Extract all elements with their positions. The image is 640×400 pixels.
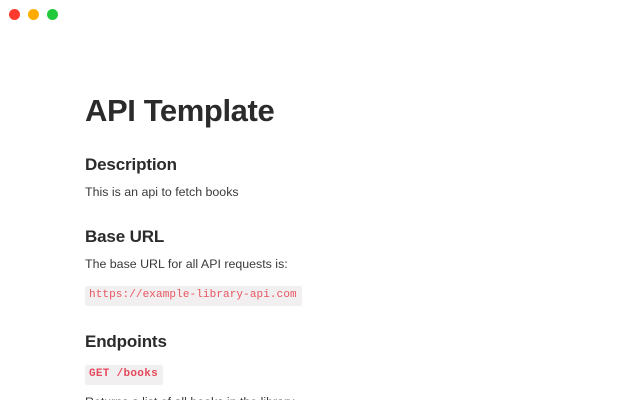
app-window: API Template Description This is an api …	[0, 0, 640, 400]
code-chip-base-url[interactable]: https://example-library-api.com	[85, 286, 302, 306]
section-heading-description: Description	[85, 129, 600, 175]
code-line-endpoint: GET /books	[85, 352, 600, 385]
document-scroll-area[interactable]: API Template Description This is an api …	[0, 29, 640, 400]
document-body: API Template Description This is an api …	[0, 29, 640, 400]
section-heading-endpoints: Endpoints	[85, 306, 600, 352]
section-heading-base-url: Base URL	[85, 201, 600, 247]
traffic-light-group	[9, 9, 58, 20]
page-title: API Template	[85, 29, 600, 129]
close-window-button[interactable]	[9, 9, 20, 20]
code-line-base-url: https://example-library-api.com	[85, 273, 600, 306]
code-chip-endpoint-get-books[interactable]: GET /books	[85, 365, 163, 385]
window-titlebar	[0, 0, 640, 29]
section-body-base-url: The base URL for all API requests is:	[85, 247, 600, 273]
maximize-window-button[interactable]	[47, 9, 58, 20]
minimize-window-button[interactable]	[28, 9, 39, 20]
section-body-description: This is an api to fetch books	[85, 175, 600, 201]
section-body-endpoints: Returns a list of all books in the libra…	[85, 385, 600, 400]
